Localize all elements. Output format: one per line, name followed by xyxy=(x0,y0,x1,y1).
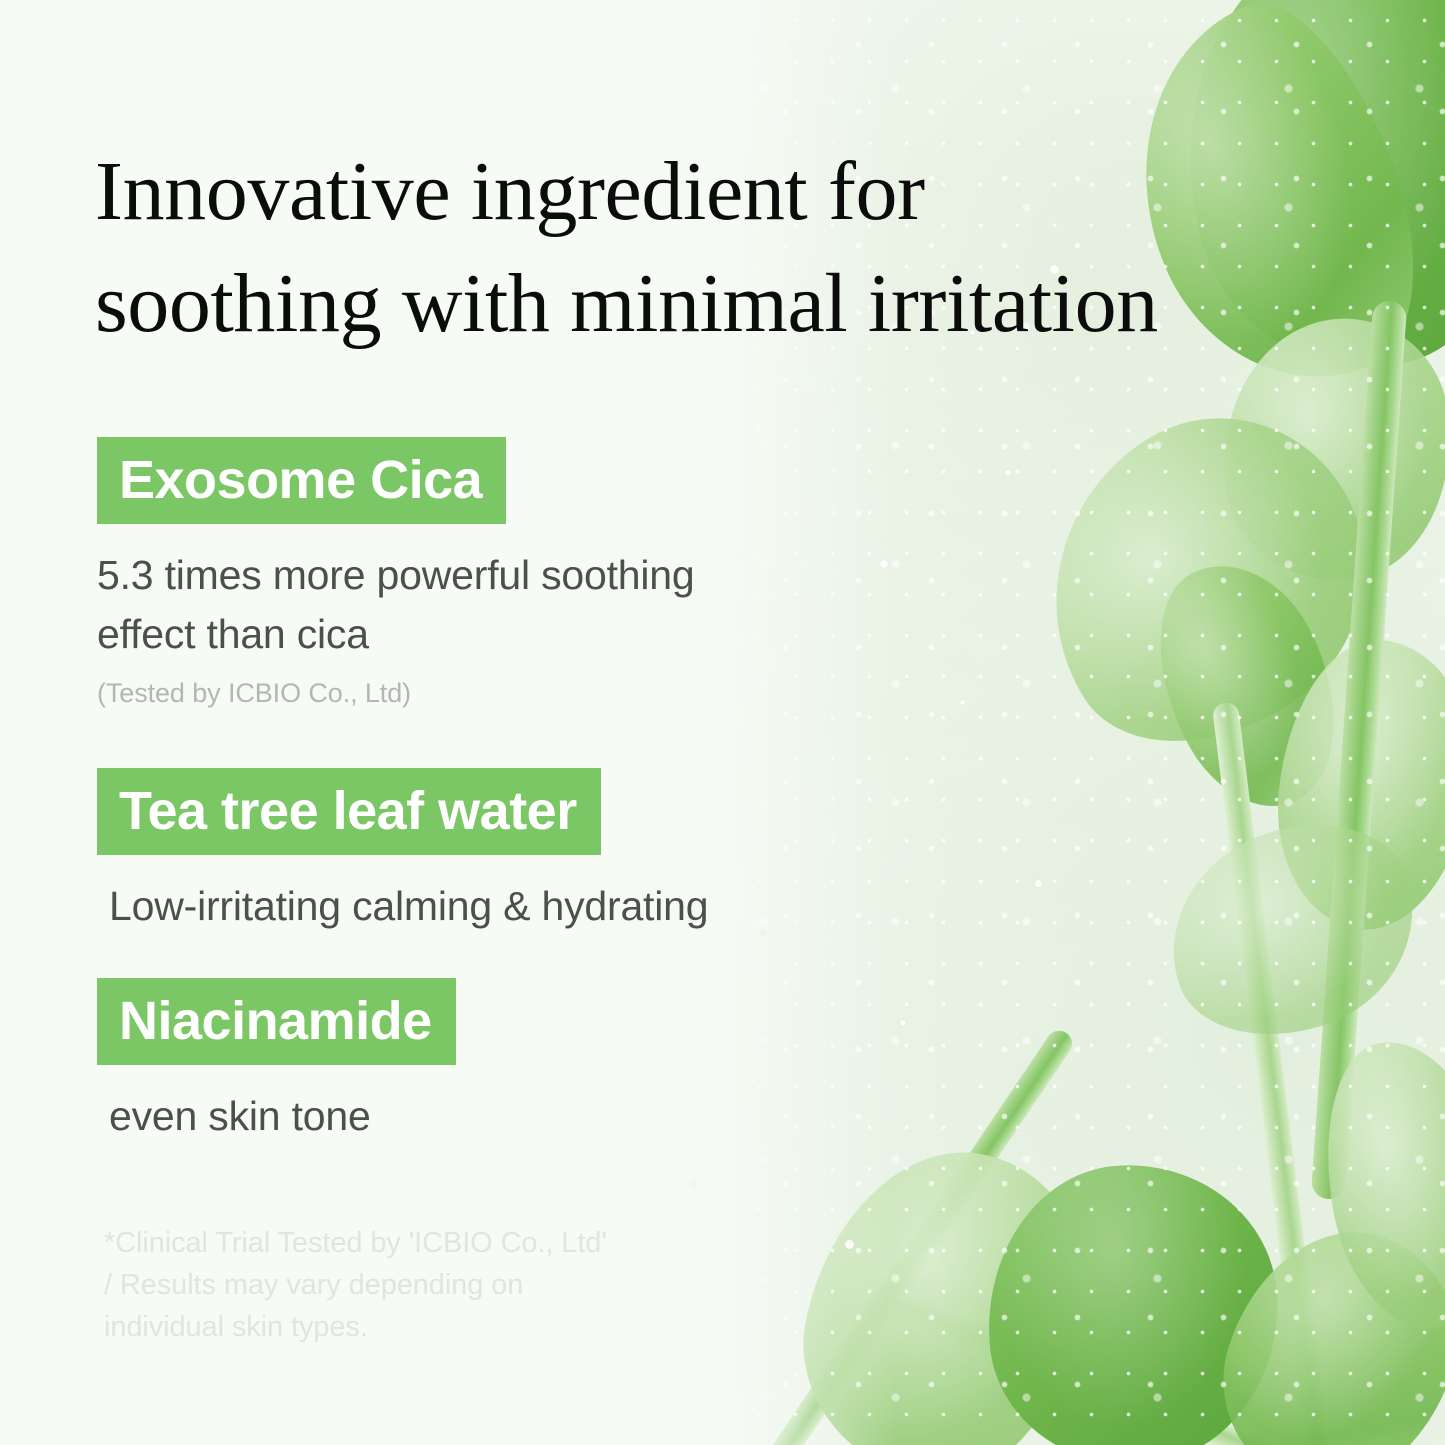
ingredient-badge-niacinamide: Niacinamide xyxy=(97,978,456,1065)
ingredient-description-tea-tree-leaf-water: Low-irritating calming & hydrating xyxy=(97,877,708,936)
page-title-line-1: Innovative ingredient for xyxy=(95,136,1345,248)
ingredient-badge-exosome-cica: Exosome Cica xyxy=(97,437,506,524)
ingredient-block-tea-tree-leaf-water: Tea tree leaf water Low-irritating calmi… xyxy=(97,768,708,936)
content-layer: Innovative ingredient for soothing with … xyxy=(0,0,1445,1445)
ingredient-description-niacinamide: even skin tone xyxy=(97,1087,456,1146)
page-title: Innovative ingredient for soothing with … xyxy=(95,136,1345,359)
ingredient-block-niacinamide: Niacinamide even skin tone xyxy=(97,978,456,1146)
ingredient-block-exosome-cica: Exosome Cica 5.3 times more powerful soo… xyxy=(97,437,695,711)
ingredient-description-exosome-cica: 5.3 times more powerful soothing effect … xyxy=(97,546,695,664)
clinical-trial-disclaimer: *Clinical Trial Tested by 'ICBIO Co., Lt… xyxy=(104,1222,607,1348)
ingredient-note-exosome-cica: (Tested by ICBIO Co., Ltd) xyxy=(97,676,695,711)
page-title-line-2: soothing with minimal irritation xyxy=(95,248,1345,360)
promo-image-canvas: Innovative ingredient for soothing with … xyxy=(0,0,1445,1445)
ingredient-badge-tea-tree-leaf-water: Tea tree leaf water xyxy=(97,768,601,855)
